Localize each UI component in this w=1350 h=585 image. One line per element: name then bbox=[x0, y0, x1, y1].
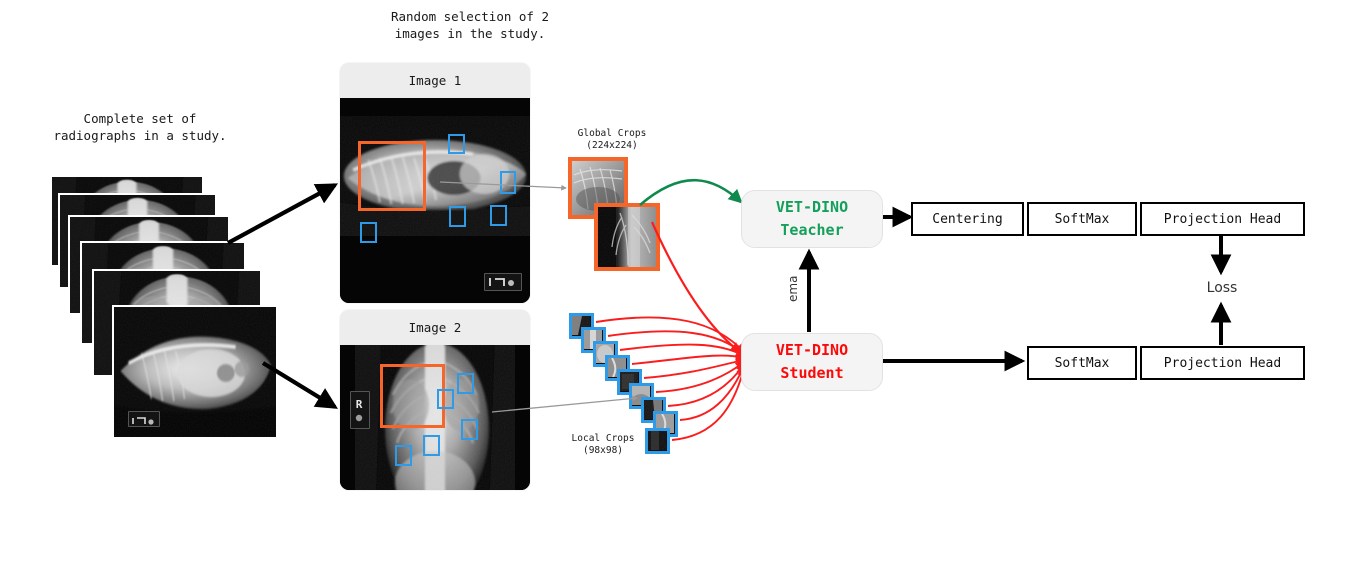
student-line-1: VET-DINO bbox=[776, 339, 848, 362]
local-crop[interactable] bbox=[645, 428, 670, 454]
teacher-line-1: VET-DINO bbox=[776, 196, 848, 219]
loss-label: Loss bbox=[1198, 280, 1246, 296]
softmax-student-label: SoftMax bbox=[1055, 356, 1110, 371]
softmax-teacher-box[interactable]: SoftMax bbox=[1027, 202, 1137, 236]
ema-label: ema bbox=[786, 276, 800, 302]
projection-head-student-label: Projection Head bbox=[1164, 356, 1281, 371]
student-line-2: Student bbox=[780, 362, 843, 385]
projection-head-teacher-label: Projection Head bbox=[1164, 212, 1281, 227]
softmax-teacher-label: SoftMax bbox=[1055, 212, 1110, 227]
vet-dino-student-box[interactable]: VET-DINO Student bbox=[741, 333, 883, 391]
softmax-student-box[interactable]: SoftMax bbox=[1027, 346, 1137, 380]
centering-label: Centering bbox=[932, 212, 1002, 227]
projection-head-student-box[interactable]: Projection Head bbox=[1140, 346, 1305, 380]
projection-head-teacher-box[interactable]: Projection Head bbox=[1140, 202, 1305, 236]
teacher-line-2: Teacher bbox=[780, 219, 843, 242]
local-crops-cascade bbox=[0, 0, 1350, 585]
centering-box[interactable]: Centering bbox=[911, 202, 1024, 236]
vet-dino-teacher-box[interactable]: VET-DINO Teacher bbox=[741, 190, 883, 248]
figure-canvas: Complete set of radiographs in a study. … bbox=[0, 0, 1350, 585]
